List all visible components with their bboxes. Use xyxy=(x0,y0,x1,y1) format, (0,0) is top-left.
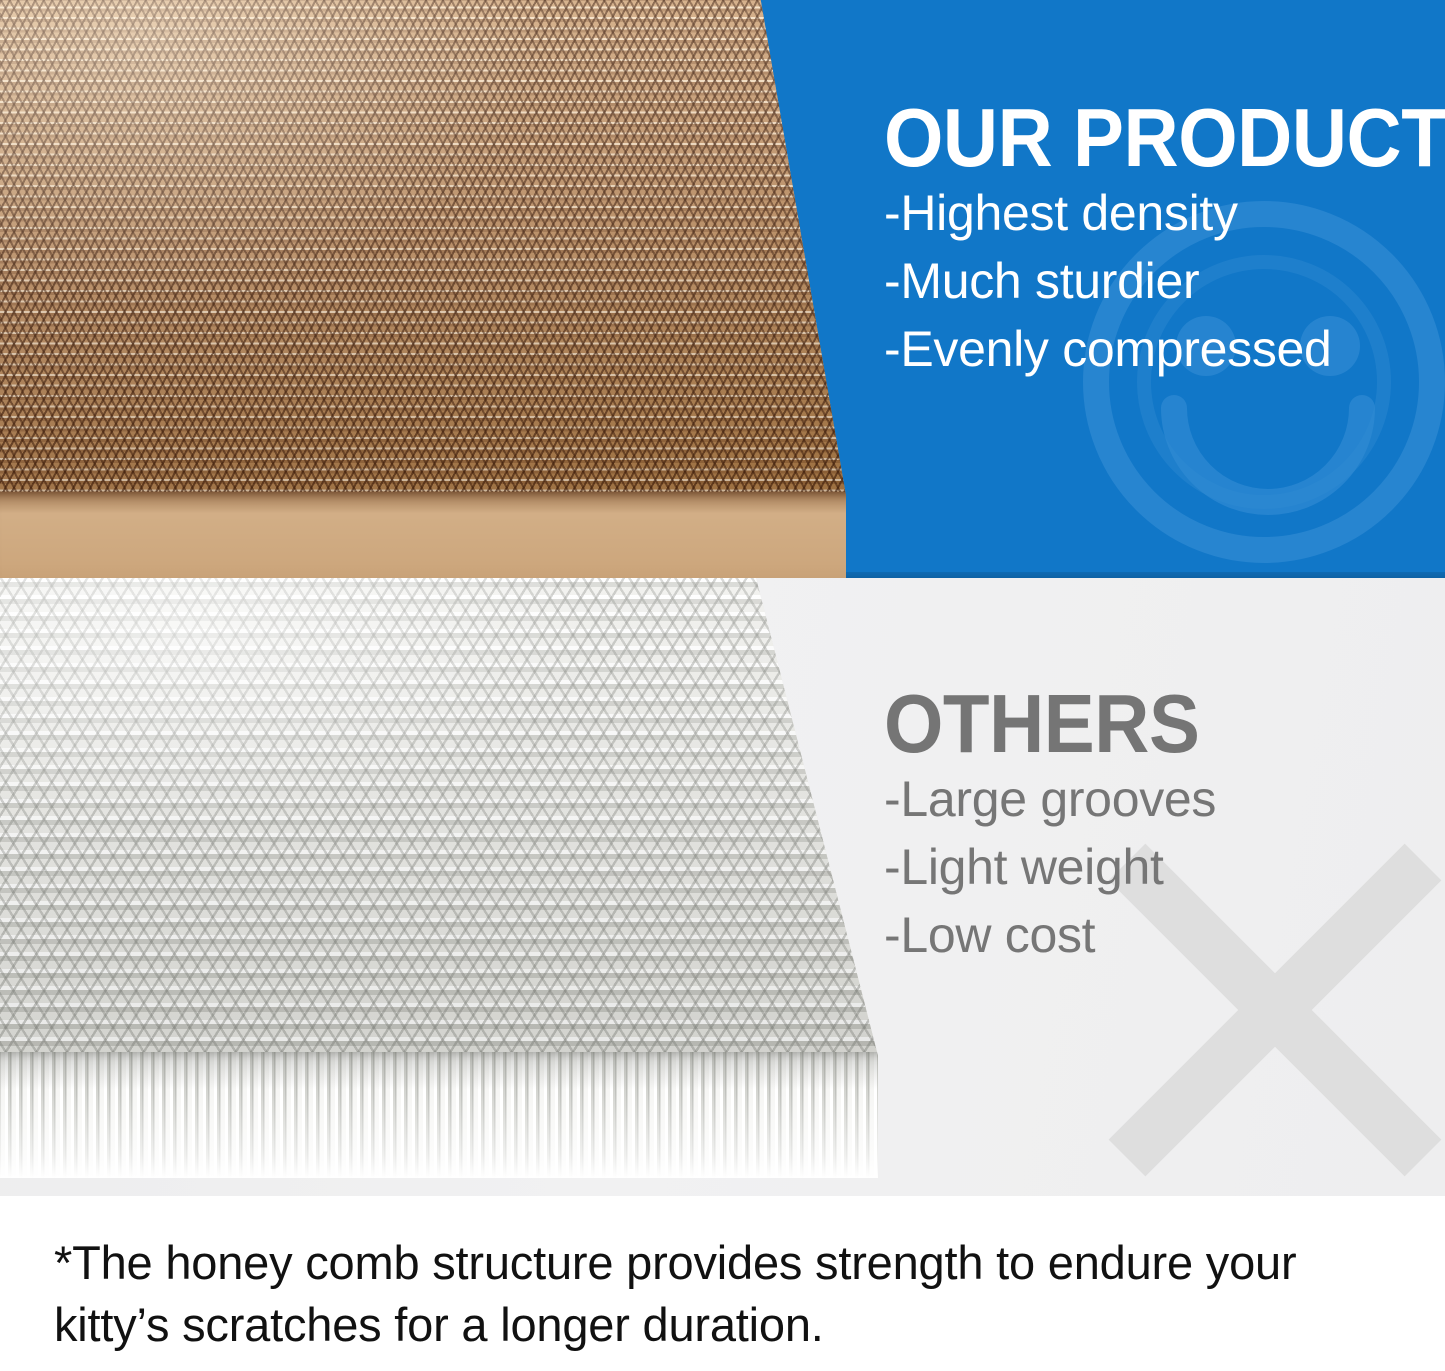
our-product-bullet-3: -Evenly compressed xyxy=(884,315,1445,383)
others-bullet-3: -Low cost xyxy=(884,901,1227,969)
our-product-bullet-1: -Highest density xyxy=(884,179,1445,247)
others-bullet-list: -Large grooves -Light weight -Low cost xyxy=(884,765,1227,969)
footnote-section: *The honey comb structure provides stren… xyxy=(0,1196,1445,1371)
footnote-text: *The honey comb structure provides stren… xyxy=(54,1232,1406,1356)
our-product-bullet-2: -Much sturdier xyxy=(884,247,1445,315)
product-board-image xyxy=(0,0,854,578)
our-product-section: OUR PRODUCT -Highest density -Much sturd… xyxy=(0,0,1445,578)
our-product-text-block: OUR PRODUCT -Highest density -Much sturd… xyxy=(884,96,1445,383)
our-product-bullet-list: -Highest density -Much sturdier -Evenly … xyxy=(884,179,1445,383)
others-bullet-1: -Large grooves xyxy=(884,765,1227,833)
others-bullet-2: -Light weight xyxy=(884,833,1227,901)
brown-board-edge xyxy=(0,492,854,578)
others-text-block: OTHERS -Large grooves -Light weight -Low… xyxy=(884,682,1227,969)
brown-honeycomb-face xyxy=(0,0,854,500)
product-comparison-infographic: OUR PRODUCT -Highest density -Much sturd… xyxy=(0,0,1445,1371)
white-honeycomb-face xyxy=(0,578,894,1060)
our-product-heading: OUR PRODUCT xyxy=(884,96,1445,179)
others-heading: OTHERS xyxy=(884,682,1199,765)
others-section: OTHERS -Large grooves -Light weight -Low… xyxy=(0,578,1445,1196)
others-board-image xyxy=(0,578,894,1178)
white-board-edge xyxy=(0,1052,894,1178)
